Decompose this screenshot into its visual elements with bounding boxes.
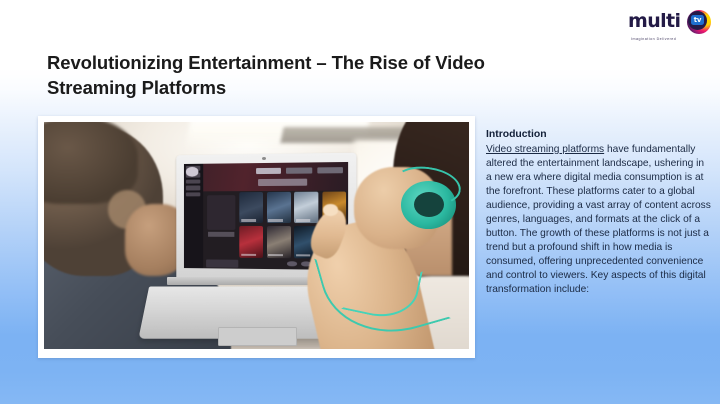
screen-poster-thumb [266,192,290,224]
logo-tagline: Imagination Delivered [631,37,676,41]
screen-featured-card [207,195,234,230]
screen-sidebar-item [186,179,200,184]
screen-section-title [257,179,307,186]
screen-poster-thumb [239,192,262,223]
photo-laptop-webcam [262,157,266,160]
screen-footer-bar [205,259,237,267]
introduction-heading: Introduction [486,128,712,143]
introduction-text-block: Introduction Video streaming platforms h… [486,128,712,298]
introduction-paragraph-text: have fundamentally altered the entertain… [486,144,711,296]
screen-app-logo [186,167,199,176]
photo-laptop-trackpad [218,327,297,346]
photo-frame [38,116,475,358]
video-streaming-platforms-link[interactable]: Video streaming platforms [486,144,604,155]
screen-top-menu [256,167,343,174]
screen-sidebar-item [186,185,200,190]
streaming-photo [44,122,469,349]
introduction-paragraph: Video streaming platforms have fundament… [486,143,712,298]
logo-wordmark: multi [628,12,680,31]
screen-top-menu-item [286,167,311,174]
screen-dot [287,261,297,265]
slide-canvas: multi tv Imagination Delivered Revolutio… [0,0,720,404]
logo-circle-badge: tv [687,10,711,34]
screen-featured-caption [208,232,234,237]
page-title: Revolutionizing Entertainment – The Rise… [47,50,517,100]
screen-top-menu-item [256,167,281,174]
screen-sidebar [183,164,203,268]
multitv-logo: multi tv Imagination Delivered [628,8,712,42]
screen-sidebar-item [186,192,200,197]
screen-top-menu-item [317,167,343,174]
photo-fingertip [323,204,338,215]
screen-poster-thumb [266,226,290,258]
logo-tv-badge: tv [691,15,704,25]
screen-poster-thumb [294,191,318,223]
screen-poster-thumb [239,226,262,258]
